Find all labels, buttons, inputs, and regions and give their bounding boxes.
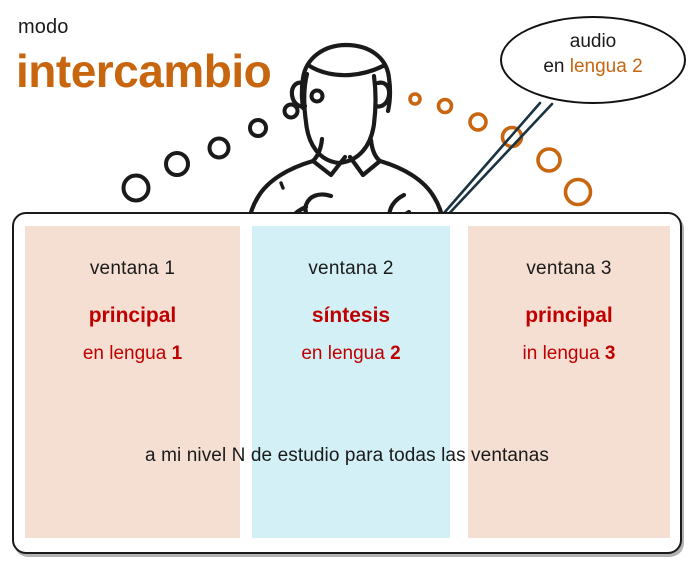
speech-bubble-line-1: audio: [500, 29, 686, 54]
modo-kicker-label: modo: [18, 16, 68, 39]
window-3-language-number: 3: [605, 343, 616, 364]
bubble-circle: [285, 105, 298, 118]
window-3-role: principal: [468, 304, 670, 328]
bubble-circle: [166, 153, 188, 175]
window-1-language-number: 1: [172, 343, 183, 364]
window-column-1-content: ventana 1 principal en lengua 1: [25, 226, 240, 365]
bubble-circle: [124, 176, 149, 201]
window-3-label: ventana 3: [468, 258, 670, 280]
bubble-circle: [210, 139, 229, 158]
black-bubble-trail: [124, 91, 323, 201]
window-column-2[interactable]: ventana 2 síntesis en lengua 2: [252, 226, 450, 538]
speech-bubble-line-2: en lengua 2: [500, 54, 686, 79]
orange-bubble-trail: [410, 94, 591, 205]
speech-bubble-line-2-accent: lengua 2: [570, 56, 643, 77]
window-2-language-number: 2: [390, 343, 401, 364]
window-column-3[interactable]: ventana 3 principal in lengua 3: [468, 226, 670, 538]
window-1-language-prefix: en lengua: [83, 343, 172, 364]
window-column-3-content: ventana 3 principal in lengua 3: [468, 226, 670, 365]
window-1-label: ventana 1: [25, 258, 240, 280]
bubble-circle: [538, 149, 560, 171]
window-3-language-prefix: in lengua: [523, 343, 605, 364]
accent-tick-left-icon: [281, 183, 283, 188]
bubble-circle: [439, 100, 452, 113]
bubble-circle: [312, 91, 323, 102]
window-1-role: principal: [25, 304, 240, 328]
bubble-circle: [566, 180, 591, 205]
speech-bubble-line-2-prefix: en: [543, 56, 569, 77]
window-column-2-content: ventana 2 síntesis en lengua 2: [252, 226, 450, 365]
window-2-language: en lengua 2: [252, 343, 450, 365]
panel-footer-note: a mi nivel N de estudio para todas las v…: [12, 445, 682, 467]
window-2-language-prefix: en lengua: [301, 343, 390, 364]
window-2-role: síntesis: [252, 304, 450, 328]
bubble-circle: [250, 120, 266, 136]
speech-bubble-text: audio en lengua 2: [500, 29, 686, 79]
window-column-1[interactable]: ventana 1 principal en lengua 1: [25, 226, 240, 538]
bubble-circle: [503, 128, 522, 147]
bubble-circle: [410, 94, 420, 104]
bubble-circle: [470, 114, 486, 130]
page-title: intercambio: [16, 44, 271, 98]
window-1-language: en lengua 1: [25, 343, 240, 365]
window-3-language: in lengua 3: [468, 343, 670, 365]
window-2-label: ventana 2: [252, 258, 450, 280]
